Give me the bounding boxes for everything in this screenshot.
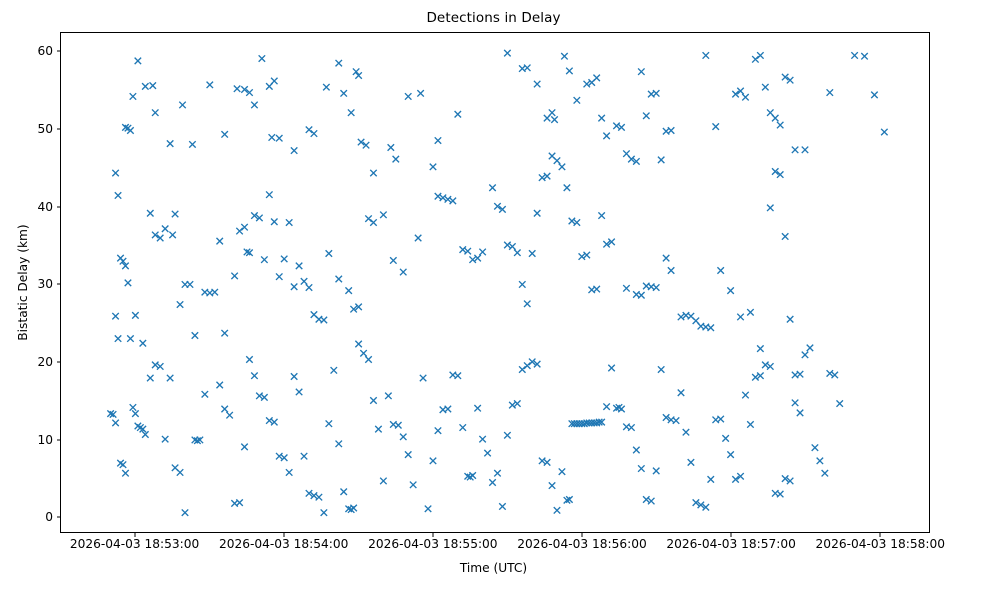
x-tick-label: 2026-04-03 18:53:00 xyxy=(70,537,199,551)
chart-title: Detections in Delay xyxy=(0,10,987,26)
y-tick-label: 50 xyxy=(37,122,53,136)
y-tick-label: 0 xyxy=(45,510,53,524)
y-axis-label: Bistatic Delay (km) xyxy=(16,32,32,533)
y-tick-label: 30 xyxy=(37,277,53,291)
x-axis-label: Time (UTC) xyxy=(0,561,987,575)
y-tick-mark xyxy=(57,51,61,52)
x-tick-label: 2026-04-03 18:57:00 xyxy=(666,537,795,551)
plot-area[interactable] xyxy=(60,32,930,533)
y-tick-label: 10 xyxy=(37,433,53,447)
y-tick-label: 20 xyxy=(37,355,53,369)
x-tick-label: 2026-04-03 18:58:00 xyxy=(816,537,945,551)
y-tick-mark xyxy=(57,206,61,207)
figure-canvas: Detections in Delay Bistatic Delay (km) … xyxy=(0,0,987,590)
y-tick-mark xyxy=(57,517,61,518)
y-tick-label: 60 xyxy=(37,44,53,58)
x-tick-mark xyxy=(283,533,284,537)
x-tick-mark xyxy=(582,533,583,537)
x-tick-label: 2026-04-03 18:54:00 xyxy=(219,537,348,551)
x-tick-label: 2026-04-03 18:55:00 xyxy=(368,537,497,551)
x-tick-mark xyxy=(432,533,433,537)
x-tick-mark xyxy=(731,533,732,537)
y-tick-mark xyxy=(57,129,61,130)
y-tick-label: 40 xyxy=(37,200,53,214)
y-tick-mark xyxy=(57,439,61,440)
x-tick-mark xyxy=(880,533,881,537)
y-tick-mark xyxy=(57,284,61,285)
x-tick-label: 2026-04-03 18:56:00 xyxy=(517,537,646,551)
x-tick-mark xyxy=(134,533,135,537)
scatter-series xyxy=(61,33,929,532)
y-tick-mark xyxy=(57,362,61,363)
